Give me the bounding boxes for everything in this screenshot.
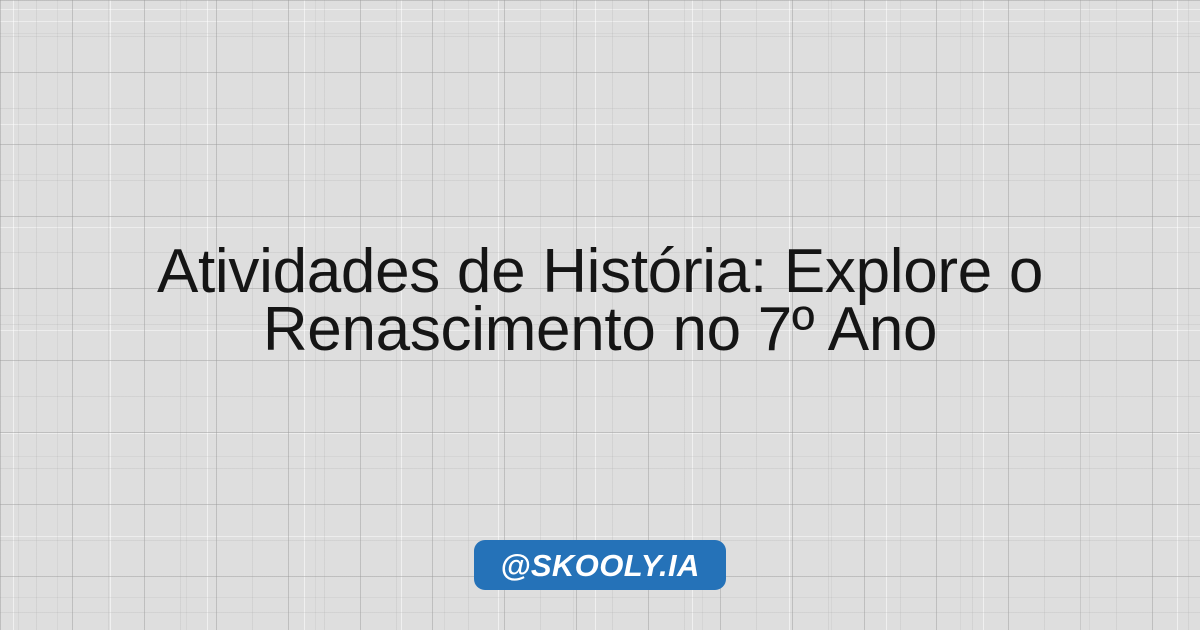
page-title: Atividades de História: Explore o Renasc… bbox=[56, 243, 1144, 359]
badge-row: @SKOOLY.IA bbox=[0, 540, 1200, 590]
brand-handle-badge: @SKOOLY.IA bbox=[474, 540, 726, 590]
title-block: Atividades de História: Explore o Renasc… bbox=[0, 243, 1200, 359]
card-content: Atividades de História: Explore o Renasc… bbox=[0, 0, 1200, 630]
social-share-card: Atividades de História: Explore o Renasc… bbox=[0, 0, 1200, 630]
